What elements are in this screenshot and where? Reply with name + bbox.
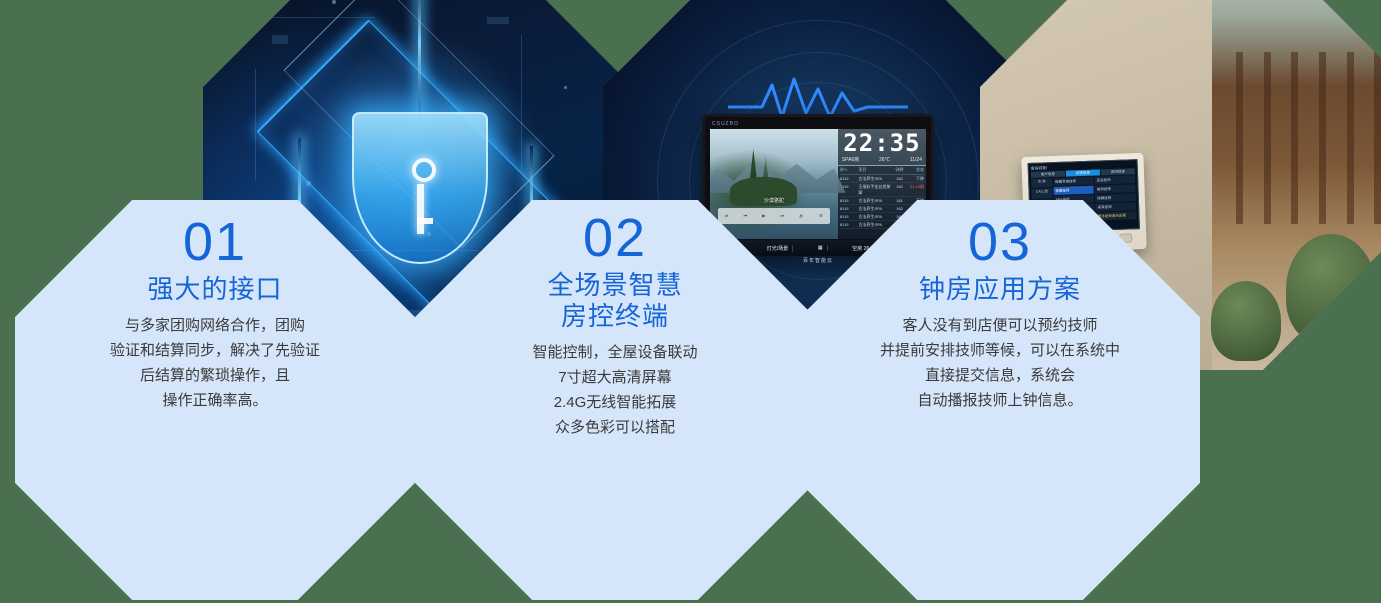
plant-foliage [1286, 234, 1376, 344]
list-icon[interactable]: ☰ [819, 213, 823, 218]
card-description: 客人没有到店便可以预约技师 并提前安排技师等候，可以在系统中 直接提交信息，系统… [790, 313, 1210, 413]
card-description-line: 后结算的繁琐操作，且 [50, 363, 380, 388]
table-header-cell: 项目 [858, 167, 892, 173]
cell: 古法养生SPA [858, 176, 892, 182]
card-description-line: 操作正确率高。 [50, 388, 380, 413]
card-description-line: 验证和结算同步，解决了先验证 [50, 338, 380, 363]
key-icon [417, 184, 424, 234]
cell: 玉指彩手金丝捏按摩 [858, 184, 892, 196]
table-header-cell: 钟牌 [892, 167, 907, 173]
card-description-line: 直接提交信息，系统会 [790, 363, 1210, 388]
cell: 162 [892, 176, 907, 182]
cell: 古法养生SPA [858, 222, 892, 228]
panel-tab[interactable]: 房间信息 [1101, 168, 1135, 175]
room-label: SPA6房 [842, 156, 859, 163]
next-icon[interactable]: ⏭ [780, 213, 784, 218]
clock-time: 22:35 [841, 131, 923, 155]
card-title-line: 强大的接口 [50, 274, 380, 305]
cell: 古法养生SPA [858, 214, 892, 220]
card-description: 与多家团购网络合作，团购 验证和结算同步，解决了先验证 后结算的繁琐操作，且 操… [50, 313, 380, 413]
card-title: 钟房应用方案 [790, 274, 1210, 305]
grid-menu-icon[interactable]: ▦ [814, 245, 828, 251]
cell: 古法养生SPA [858, 198, 892, 204]
temperature-label: 26℃ [879, 157, 890, 163]
card-title: 全场景智慧 房控终端 [450, 270, 780, 332]
tablet-brand: CSUZBO [710, 121, 926, 128]
card-description-line: 客人没有到店便可以预约技师 [790, 313, 1210, 338]
cell: 8119 [840, 176, 859, 182]
table-row: 8119 古法养生SPA 162 下钟 [840, 175, 924, 183]
volume-icon[interactable]: 🔊 [799, 213, 804, 218]
panel-list-item[interactable]: 修脚技师 [1095, 193, 1136, 202]
clock-widget: 22:35 SPA6房 26℃ 11/24 [838, 129, 926, 165]
card-description-line: 与多家团购网络合作，团购 [50, 313, 380, 338]
table-header-cell: 钟人 [840, 167, 859, 173]
bottom-button[interactable]: 灯光/场景 [763, 245, 793, 252]
card-title-line: 房控终端 [450, 301, 780, 332]
table-header-row: 钟人 项目 钟牌 状态 [840, 167, 924, 175]
cell: 161 [892, 198, 907, 204]
cell: 古法养生SPA [858, 206, 892, 212]
previous-icon[interactable]: ⏮ [744, 213, 748, 218]
diamond-feature-layout: CSUZBO 沙漠骆驼 ⇄ ⏮ ▶ ⏭ [0, 0, 1381, 603]
card-description-line: 智能控制，全屋设备联动 [450, 340, 780, 365]
screen-wallpaper-photo: 沙漠骆驼 ⇄ ⏮ ▶ ⏭ 🔊 ☰ [710, 129, 838, 239]
cell: 8119 [840, 206, 859, 212]
card-title-line: 钟房应用方案 [790, 274, 1210, 305]
media-player-bar[interactable]: ⇄ ⏮ ▶ ⏭ 🔊 ☰ [718, 208, 831, 224]
light-beam [418, 0, 421, 121]
table-row: 8119 玉指彩手金丝捏按摩 162 01:15剩 [840, 183, 924, 197]
card-description-line: 自动播报技师上钟信息。 [790, 388, 1210, 413]
panel-list-item[interactable]: 足浴技师 [1094, 175, 1135, 184]
cell: 8119 [840, 222, 859, 228]
card-description-line: 众多色彩可以搭配 [450, 415, 780, 440]
card-title: 强大的接口 [50, 274, 380, 305]
panel-tab-active[interactable]: 技师信息 [1066, 169, 1100, 176]
panel-list-item[interactable]: 采耳技师 [1095, 202, 1136, 211]
cell: 8119 [840, 214, 859, 220]
cell: 8119 [840, 198, 859, 204]
card-description-line: 并提前安排技师等候，可以在系统中 [790, 338, 1210, 363]
card-title-line: 全场景智慧 [450, 270, 780, 301]
shuffle-icon[interactable]: ⇄ [725, 213, 728, 218]
cell: 下钟 [907, 176, 924, 182]
table-header-cell: 状态 [907, 167, 924, 173]
panel-list-item[interactable]: 搓背技师 [1095, 184, 1136, 193]
cell: 162 [892, 184, 907, 196]
play-icon[interactable]: ▶ [762, 213, 765, 218]
now-playing-title: 沙漠骆驼 [710, 197, 838, 204]
